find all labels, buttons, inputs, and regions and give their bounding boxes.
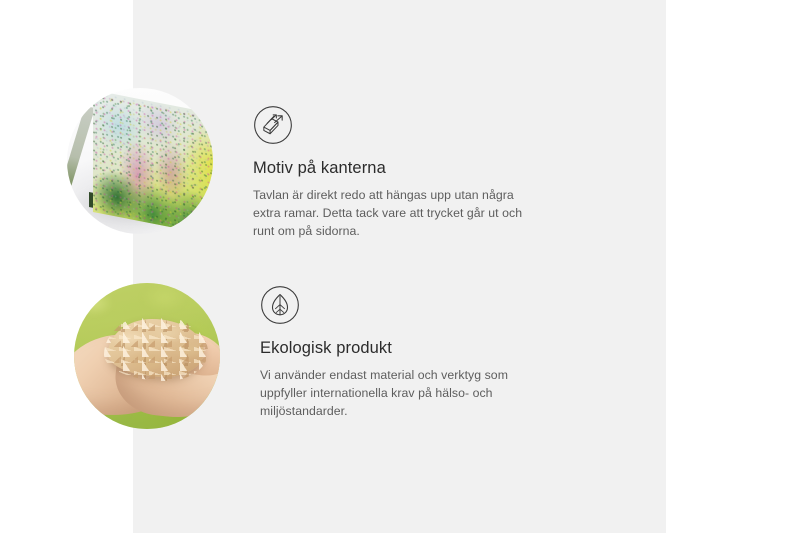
feature-title: Ekologisk produkt — [260, 339, 530, 359]
feature-description: Tavlan är direkt redo att hängas upp uta… — [253, 186, 523, 241]
product-feature-banner: Motiv på kanterna Tavlan är direkt redo … — [0, 0, 800, 533]
leaf-icon — [260, 285, 300, 325]
canvas-left-edge — [67, 106, 95, 199]
canvas-wrap-edges-icon — [253, 105, 293, 145]
photo-background-grass — [74, 283, 220, 429]
hands-holding-wood-chips-photo — [74, 283, 220, 429]
feature-text-column: Ekologisk produkt Vi använder endast mat… — [260, 283, 530, 420]
feature-title: Motiv på kanterna — [253, 159, 523, 179]
canvas-print-corner-photo — [67, 88, 213, 234]
feature-description: Vi använder endast material och verktyg … — [260, 366, 530, 421]
content-panel — [133, 0, 666, 533]
feature-text-column: Motiv på kanterna Tavlan är direkt redo … — [253, 88, 523, 240]
photo-background-white — [67, 88, 213, 234]
feature-block-ekologisk-produkt: Ekologisk produkt Vi använder endast mat… — [7, 283, 530, 429]
feature-block-motiv-pa-kanterna: Motiv på kanterna Tavlan är direkt redo … — [0, 88, 523, 240]
canvas-printed-face — [93, 90, 213, 234]
wood-chips-pile — [108, 319, 204, 377]
